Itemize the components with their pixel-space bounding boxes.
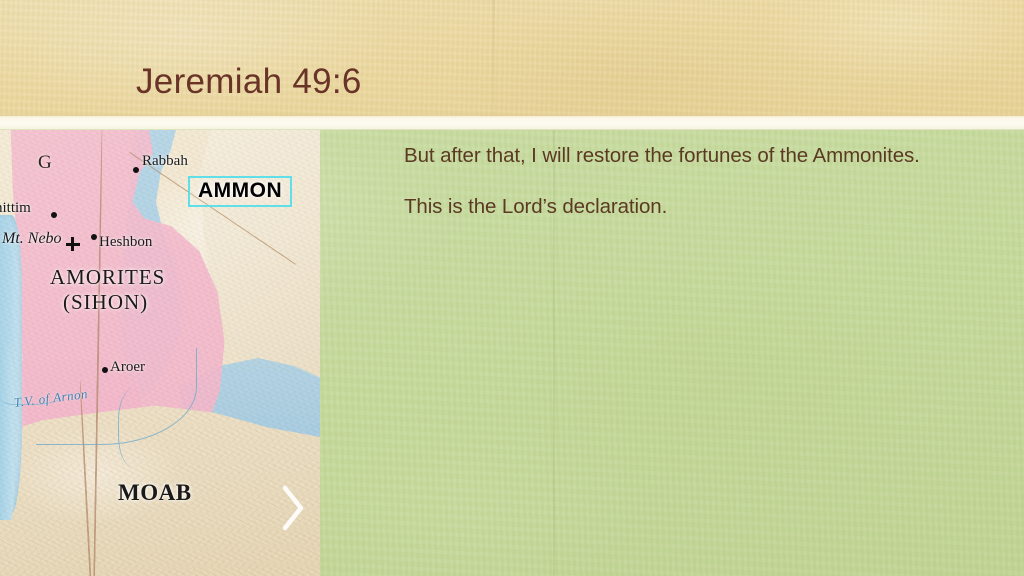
map-label-gad: G <box>38 152 52 174</box>
presentation-slide: Jeremiah 49:6 But after that, I will res… <box>0 0 1024 576</box>
map-label-aroer: Aroer <box>110 359 145 376</box>
map-label-mt-nebo: Mt. Nebo <box>2 230 62 248</box>
map-dot-rabbah <box>133 167 139 173</box>
map-label-ammon-highlight: AMMON <box>188 176 292 207</box>
map-cross-mt-nebo <box>66 237 80 251</box>
map-dot-shittim <box>51 212 57 218</box>
slide-text-block: But after that, I will restore the fortu… <box>404 142 924 244</box>
header-texture-seam <box>492 0 495 116</box>
map-river-arnon-tributary <box>118 388 159 468</box>
map-label-rabbah: Rabbah <box>142 153 188 170</box>
chevron-right-icon <box>278 482 308 534</box>
body-paragraph-2: This is the Lord’s declaration. <box>404 193 924 220</box>
map-label-sihon: (SIHON) <box>63 290 148 315</box>
map-label-shittim: hittim <box>0 200 31 217</box>
map-dot-aroer <box>102 367 108 373</box>
header-divider <box>0 116 1024 131</box>
map-label-ammon: AMMON <box>198 179 282 203</box>
map-label-amorites: AMORITES <box>50 265 165 290</box>
page-title: Jeremiah 49:6 <box>136 62 362 102</box>
body-paragraph-1: But after that, I will restore the fortu… <box>404 142 924 169</box>
biblical-map-image: G Rabbah AMMON hittim Mt. Nebo Heshbon A… <box>0 130 320 576</box>
map-dot-heshbon <box>91 234 97 240</box>
map-label-heshbon: Heshbon <box>99 234 152 251</box>
next-slide-button[interactable] <box>278 482 308 534</box>
map-label-moab: MOAB <box>118 480 192 506</box>
